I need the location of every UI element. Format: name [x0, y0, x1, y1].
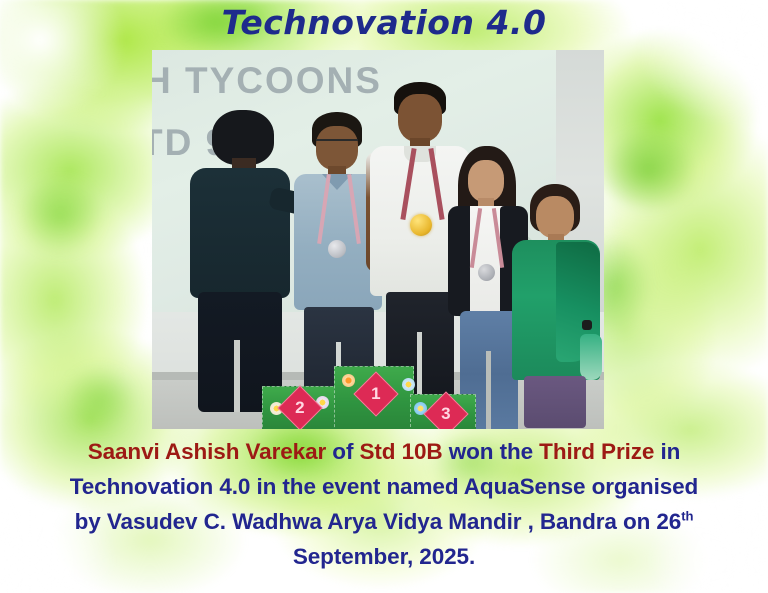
winners-podium: 2 1 3	[262, 366, 474, 429]
podium-rank-label: 2	[295, 398, 304, 418]
caption-class: Std 10B	[360, 439, 443, 464]
photo-content: H TYCOONS TD 9	[152, 50, 604, 429]
teacher-pants	[524, 376, 586, 428]
teacher-dupatta-tail	[580, 334, 602, 380]
podium-rank-label: 3	[441, 404, 450, 424]
caption-venue-date: by Vasudev C. Wadhwa Arya Vidya Mandir ,…	[75, 509, 682, 534]
presenter-hair	[212, 110, 274, 165]
caption-prize: Third Prize	[539, 439, 654, 464]
page-title: Technovation 4.0	[222, 3, 547, 42]
projection-text-line-1: H TYCOONS	[152, 60, 382, 102]
student2-face	[316, 126, 358, 170]
flower-decoration-icon	[342, 374, 355, 387]
student1-face	[398, 94, 442, 142]
caption-line-1: Saanvi Ashish Varekar of Std 10B won the…	[0, 434, 768, 469]
caption-line-4: September, 2025.	[0, 539, 768, 574]
caption-won-the: won the	[443, 439, 540, 464]
caption-line-2: Technovation 4.0 in the event named Aqua…	[0, 469, 768, 504]
caption-in: in	[654, 439, 680, 464]
medal-icon	[328, 240, 346, 258]
poster-canvas: Technovation 4.0 H TYCOONS TD 9	[0, 0, 768, 593]
flower-decoration-icon	[402, 378, 415, 391]
caption-of: of	[326, 439, 359, 464]
gold-medal-icon	[410, 214, 432, 236]
glasses-icon	[316, 139, 358, 148]
caption-date-ordinal-suffix: th	[681, 509, 693, 524]
person-presenter	[182, 110, 292, 410]
title-bar: Technovation 4.0	[0, 0, 768, 44]
caption-block: Saanvi Ashish Varekar of Std 10B won the…	[0, 434, 768, 574]
person-teacher	[510, 184, 602, 429]
event-photo: H TYCOONS TD 9	[152, 50, 604, 429]
podium-rank-label: 1	[371, 384, 380, 404]
caption-student-name: Saanvi Ashish Varekar	[88, 439, 326, 464]
student3-leg-gap	[486, 351, 491, 429]
caption-line-3: by Vasudev C. Wadhwa Arya Vidya Mandir ,…	[0, 504, 768, 539]
teacher-face	[536, 196, 574, 238]
presenter-leg-gap	[234, 340, 240, 412]
student3-face	[468, 160, 504, 202]
student3-medal-icon	[478, 264, 495, 281]
wristwatch-icon	[582, 320, 592, 330]
